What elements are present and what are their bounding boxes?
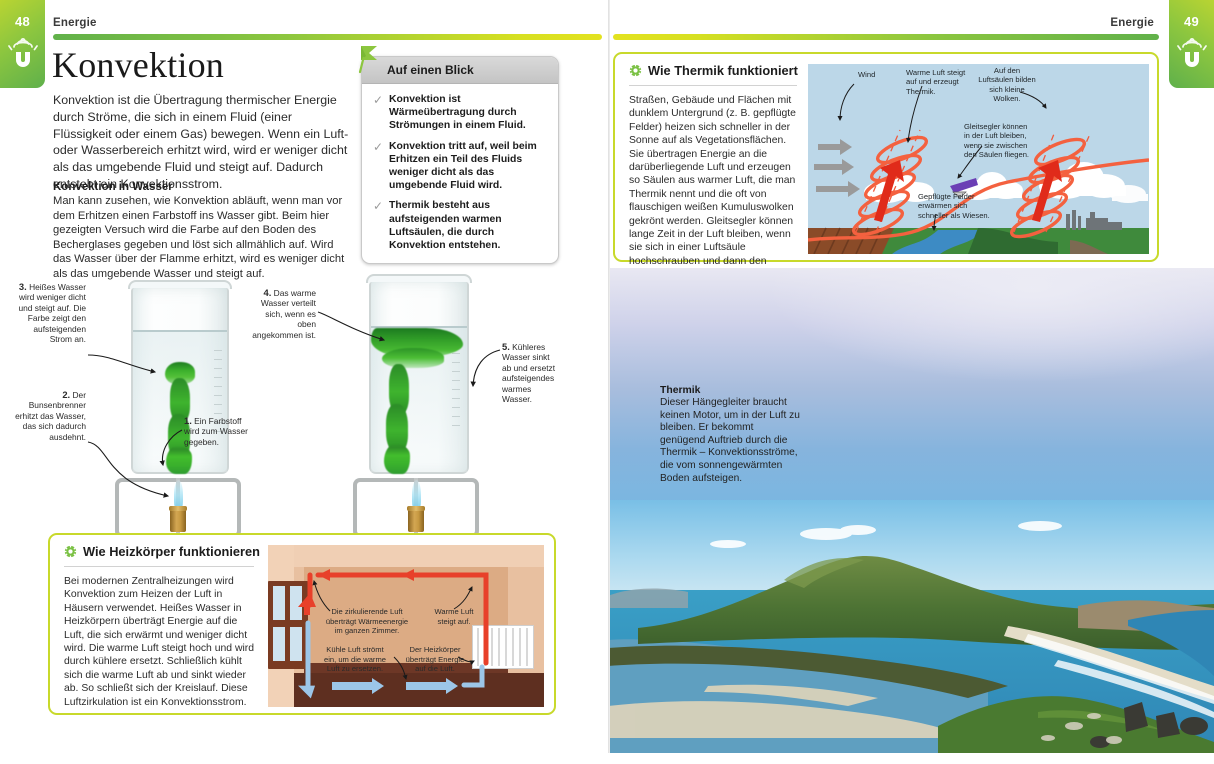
glance-item-text: Thermik besteht aus aufsteigenden warmen…	[389, 199, 546, 252]
check-icon: ✓	[373, 93, 384, 133]
page-number-left: 48	[0, 14, 45, 29]
page-title: Konvektion	[52, 44, 224, 86]
room-label-cool-air: Kühle Luft strömt ein, um die warme Luft…	[320, 645, 390, 674]
thermik-box-title-row: Wie Thermik funktioniert	[629, 63, 798, 78]
beaker-experiment-figure: 3. Heißes Wasser wird weniger dicht und …	[0, 270, 608, 530]
room-label-radiator: Der Heizkörper überträgt Energie auf die…	[404, 645, 466, 674]
photo-caption-text: Dieser Hängegleiter braucht keinen Motor…	[660, 397, 800, 485]
thermal-label-clouds: Auf den Luftsäulen bilden sich kleine Wo…	[976, 66, 1038, 104]
gear-icon	[629, 64, 642, 77]
magnet-icon	[6, 34, 40, 76]
glance-item: ✓ Konvektion tritt auf, weil beim Erhitz…	[373, 140, 546, 193]
thermik-box: Wie Thermik funktioniert Straßen, Gebäud…	[613, 52, 1159, 262]
glance-item: ✓ Konvektion ist Wärmeübertragung durch …	[373, 93, 546, 133]
radiator-box-text: Bei modernen Zentralheizungen wird Konve…	[64, 575, 257, 709]
radiator-box: Wie Heizkörper funktionieren Bei moderne…	[48, 533, 556, 715]
gear-icon	[64, 545, 77, 558]
section-subhead: Konvektion in Wasser	[53, 181, 173, 193]
chapter-tab-left: 48	[0, 0, 45, 88]
thermik-box-title: Wie Thermik funktioniert	[648, 63, 798, 78]
pushpin-icon	[358, 44, 386, 74]
glance-item-text: Konvektion ist Wärmeübertragung durch St…	[389, 93, 546, 133]
wind-arrow	[814, 139, 860, 197]
thermal-label-fields: Gepflügte Felder erwärmen sich schneller…	[918, 192, 992, 220]
city-icon	[1066, 210, 1122, 230]
room-label-circulation: Die zirkulierende Luft überträgt Wärmeen…	[324, 607, 410, 636]
glance-item-text: Konvektion tritt auf, weil beim Erhitzen…	[389, 140, 546, 193]
magnet-icon	[1175, 34, 1209, 76]
page-gutter	[608, 0, 610, 753]
chapter-tab-right: 49	[1169, 0, 1214, 88]
intro-paragraph: Konvektion ist die Übertragung thermisch…	[53, 92, 353, 193]
beaker-callout-5: 5. Kühleres Wasser sinkt ab und ersetzt …	[502, 342, 556, 404]
thermal-label-warm-air: Warme Luft steigt auf und erzeugt Thermi…	[906, 68, 968, 96]
at-a-glance-panel: Auf einen Blick ✓ Konvektion ist Wärmeüb…	[361, 56, 559, 264]
thermal-label-wind: Wind	[858, 70, 898, 79]
beaker-callout-1: 1. Ein Farbstoff wird zum Wasser gegeben…	[184, 416, 250, 447]
photo-caption-title: Thermik	[660, 385, 800, 396]
at-a-glance-title: Auf einen Blick	[362, 57, 558, 84]
thermik-box-text: Straßen, Gebäude und Flächen mit dunklem…	[629, 94, 801, 295]
room-label-warm-air: Warme Luft steigt auf.	[426, 607, 482, 626]
body-paragraph: Man kann zusehen, wie Konvektion abläuft…	[53, 194, 353, 282]
check-icon: ✓	[373, 199, 384, 252]
photo-caption: Thermik Dieser Hängegleiter braucht kein…	[660, 385, 800, 485]
book-spread: 48 Energie Konvektion Konvektion ist die…	[0, 0, 1214, 753]
running-head-left: Energie	[53, 17, 97, 31]
header-rule-right	[613, 34, 1159, 40]
running-head-right: Energie	[1110, 17, 1154, 31]
beaker-callout-3: 3. Heißes Wasser wird weniger dicht und …	[12, 282, 86, 344]
divider	[629, 85, 797, 86]
beaker-callout-4: 4. Das warme Wasser verteilt sich, wenn …	[246, 288, 316, 340]
divider	[64, 566, 254, 567]
header-rule-left	[53, 34, 602, 40]
radiator-box-title-row: Wie Heizkörper funktionieren	[64, 544, 260, 559]
glance-item: ✓ Thermik besteht aus aufsteigenden warm…	[373, 199, 546, 252]
page-number-right: 49	[1169, 14, 1214, 29]
radiator-room-illustration: Die zirkulierende Luft überträgt Wärmeen…	[268, 545, 544, 707]
radiator-box-title: Wie Heizkörper funktionieren	[83, 544, 260, 559]
thermal-label-glider: Gleitsegler können in der Luft bleiben, …	[964, 122, 1030, 160]
beaker-callout-2: 2. Der Bunsenbrenner erhitzt das Wasser,…	[6, 390, 86, 442]
thermal-diagram: Wind Warme Luft steigt auf und erzeugt T…	[808, 64, 1149, 254]
coastal-landscape-photo	[608, 500, 1214, 753]
left-page: 48 Energie Konvektion Konvektion ist die…	[0, 0, 608, 753]
check-icon: ✓	[373, 140, 384, 193]
